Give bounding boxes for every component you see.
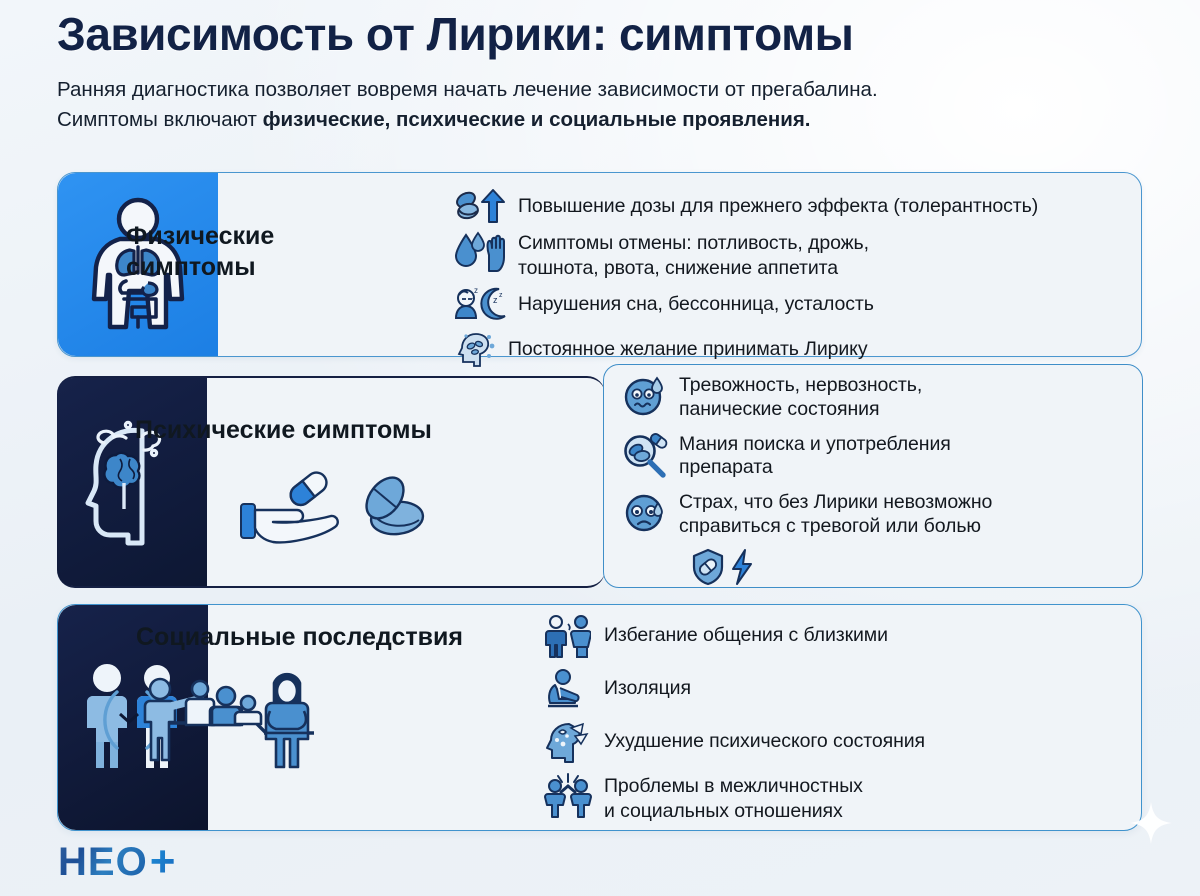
conflict-people-icon bbox=[541, 772, 595, 818]
subtitle-line-2-bold: физические, психические и социальные про… bbox=[263, 108, 811, 131]
logo-plus-icon: + bbox=[150, 840, 176, 884]
list-item-text: Изоляция bbox=[604, 666, 691, 701]
list-item: Ухудшение психического состояния bbox=[541, 719, 1131, 765]
list-item: z z z z Нарушения сна, бессонница, устал… bbox=[453, 283, 1113, 325]
mental-extra-icons bbox=[692, 548, 755, 586]
list-item-text: Избегание общения с близкими bbox=[604, 613, 888, 648]
worried-face-icon bbox=[620, 489, 670, 537]
list-item: Мания поиска и употребления препарата bbox=[620, 431, 1130, 481]
list-item: Тревожность, нервозность, панические сос… bbox=[620, 372, 1130, 422]
list-item-text: Проблемы в межличностных и социальных от… bbox=[604, 772, 863, 823]
two-people-avoidance-icon bbox=[541, 613, 595, 659]
list-item-text-line1: Симптомы отмены: потливость, дрожь, bbox=[518, 232, 869, 254]
list-item-text-line2: панические состояния bbox=[679, 398, 879, 420]
svg-text:z: z bbox=[499, 292, 503, 299]
tablets-icon bbox=[359, 471, 425, 537]
list-item-text-line1: Страх, что без Лирики невозможно bbox=[679, 491, 992, 513]
heading-physical-line1: Физические bbox=[126, 222, 274, 250]
list-item: Избегание общения с близкими bbox=[541, 613, 1131, 659]
list-mental: Тревожность, нервозность, панические сос… bbox=[620, 372, 1130, 548]
list-item-text: Ухудшение психического состояния bbox=[604, 719, 925, 754]
magnifier-pills-icon bbox=[620, 431, 670, 479]
hand-with-capsule-icon bbox=[241, 470, 338, 542]
list-item-text: Мания поиска и употребления препарата bbox=[679, 431, 951, 481]
pills-up-arrow-icon bbox=[453, 185, 509, 227]
heading-social: Социальные последствия bbox=[136, 623, 463, 652]
mental-center-icons bbox=[235, 470, 475, 553]
infographic-page: Зависимость от Лирики: симптомы Ранняя д… bbox=[0, 0, 1200, 896]
list-item-text-line1: Проблемы в межличностных bbox=[604, 775, 863, 797]
header: Зависимость от Лирики: симптомы Ранняя д… bbox=[57, 8, 1157, 136]
list-item-text: Симптомы отмены: потливость, дрожь, тошн… bbox=[518, 230, 869, 280]
subtitle-line-1: Ранняя диагностика позволяет вовремя нач… bbox=[57, 78, 878, 101]
list-item: Изоляция bbox=[541, 666, 1131, 712]
craving-head-icon bbox=[453, 328, 499, 370]
person-sitting-alone-icon bbox=[541, 666, 595, 712]
shield-pill-icon bbox=[692, 548, 726, 586]
list-item-text-line2: и социальных отношениях bbox=[604, 800, 843, 822]
list-item-text-line2: препарата bbox=[679, 456, 773, 478]
list-item: Страх, что без Лирики невозможно справит… bbox=[620, 489, 1130, 539]
sweat-drops-trembling-hand-icon bbox=[453, 230, 509, 272]
card-physical-symptoms: Физические симптомы Повышение дозы для п… bbox=[57, 172, 1142, 357]
badge-mental bbox=[57, 378, 207, 586]
list-item-text: Повышение дозы для прежнего эффекта (тол… bbox=[518, 185, 1038, 219]
list-physical: Повышение дозы для прежнего эффекта (тол… bbox=[453, 185, 1113, 373]
svg-text:z: z bbox=[493, 295, 498, 305]
panel-mental-list: Тревожность, нервозность, панические сос… bbox=[603, 364, 1143, 588]
list-item: Повышение дозы для прежнего эффекта (тол… bbox=[453, 185, 1113, 227]
logo-text: НЕО bbox=[58, 842, 148, 882]
list-item: Проблемы в межличностных и социальных от… bbox=[541, 772, 1131, 823]
list-item-text: Страх, что без Лирики невозможно справит… bbox=[679, 489, 992, 539]
list-item-text: Тревожность, нервозность, панические сос… bbox=[679, 372, 922, 422]
svg-text:z: z bbox=[474, 286, 478, 295]
list-item-text-line1: Тревожность, нервозность, bbox=[679, 374, 922, 396]
heading-mental: Психические симптомы bbox=[135, 416, 432, 445]
list-social: Избегание общения с близкими Изоляция bbox=[541, 613, 1131, 830]
card-mental-symptoms: Психические симптомы bbox=[57, 376, 605, 588]
list-item-text-line2: тошнота, рвота, снижение аппетита bbox=[518, 257, 838, 279]
footer-logo: НЕО + bbox=[58, 840, 175, 884]
card-social-consequences: Социальные последствия bbox=[57, 604, 1142, 831]
page-subtitle: Ранняя диагностика позволяет вовремя нач… bbox=[57, 75, 1147, 136]
heading-physical: Физические симптомы bbox=[126, 221, 356, 282]
page-title: Зависимость от Лирики: симптомы bbox=[57, 8, 1157, 61]
list-item-text: Постоянное желание принимать Лирику bbox=[508, 328, 867, 362]
svg-text:z: z bbox=[472, 295, 475, 301]
list-item-text-line1: Мания поиска и употребления bbox=[679, 433, 951, 455]
list-item-text-line2: справиться с тревогой или болью bbox=[679, 515, 981, 537]
list-item: Симптомы отмены: потливость, дрожь, тошн… bbox=[453, 230, 1113, 280]
heading-physical-line2: симптомы bbox=[126, 253, 256, 281]
fragmented-head-icon bbox=[541, 719, 595, 765]
list-item-text: Нарушения сна, бессонница, усталость bbox=[518, 283, 874, 317]
lightning-bolt-icon bbox=[729, 548, 755, 586]
group-isolation-scene-icon bbox=[138, 661, 328, 778]
anxious-face-icon bbox=[620, 372, 670, 420]
sleepy-face-moon-icon: z z z z bbox=[453, 283, 509, 325]
subtitle-line-2-prefix: Симптомы включают bbox=[57, 108, 263, 131]
